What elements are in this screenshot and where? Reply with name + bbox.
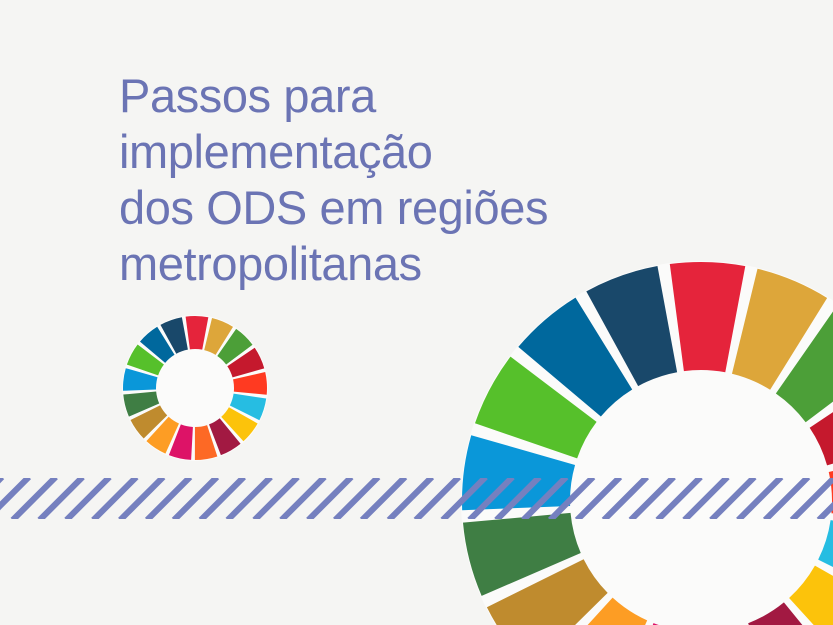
title-line-1: Passos para (119, 68, 679, 124)
hatch-stripe (0, 478, 2, 519)
sdg-wheel-large (462, 262, 833, 625)
slide-canvas: Passos para implementação dos ODS em reg… (0, 0, 833, 625)
page-title: Passos para implementação dos ODS em reg… (119, 68, 679, 292)
hatch-stripe (0, 478, 29, 519)
hatch-stripes (0, 478, 833, 519)
sdg-wheel-small-graphic (120, 313, 270, 463)
sdg-wheel-large-graphic (462, 262, 833, 625)
sdg-wheel-small (120, 313, 270, 463)
title-line-4: metropolitanas (119, 236, 679, 292)
title-line-3: dos ODS em regiões (119, 180, 679, 236)
diagonal-hatch-graphic (0, 478, 833, 519)
title-line-2: implementação (119, 124, 679, 180)
diagonal-hatch-band (0, 478, 833, 519)
